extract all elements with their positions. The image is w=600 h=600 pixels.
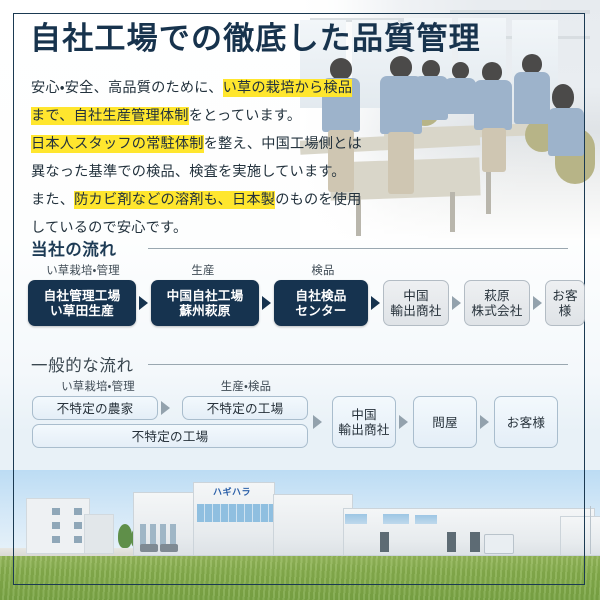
- infographic-page: ハギハラ 自社工場での徹底した品質管理 安心・安全、高品質のために、い草の栽培か…: [0, 0, 600, 600]
- flow-arrow-icon: [533, 296, 542, 310]
- general-flow-tail-1[interactable]: 問屋: [413, 396, 477, 448]
- lead-paragraph: 安心・安全、高品質のために、い草の栽培から検品 まで、自社生産管理体制をとってい…: [31, 75, 391, 243]
- lead-text: 安心・安全、高品質のために、: [31, 80, 223, 96]
- general-flow-step-factory-bottom[interactable]: 不特定の工場: [32, 424, 308, 448]
- own-flow-caption-0: い草栽培・管理: [28, 262, 138, 278]
- flow-arrow-icon: [161, 401, 170, 415]
- lead-text: のものを使用: [275, 192, 361, 208]
- own-flow-caption-1: 生産: [148, 262, 258, 278]
- own-flow-step-0[interactable]: 自社管理工場 い草田生産: [28, 280, 136, 326]
- lead-text: しているので安心です。: [31, 220, 187, 236]
- general-flow-step-farm[interactable]: 不特定の農家: [32, 396, 158, 420]
- lead-line-3: 日本人スタッフの常駐体制を整え、中国工場側とは: [31, 131, 391, 157]
- flow-arrow-icon: [139, 296, 148, 310]
- general-flow-tail-2[interactable]: お客様: [494, 396, 558, 448]
- general-flow-caption-1: 生産・検品: [186, 378, 306, 394]
- general-flow-section: 一般的な流れ い草栽培・管理 生産・検品 不特定の農家 不特定の工場 不特定の工…: [0, 352, 600, 464]
- building-sign: ハギハラ: [213, 485, 251, 498]
- own-flow-section: 当社の流れ い草栽培・管理 生産 検品 自社管理工場 い草田生産 中国自社工場 …: [0, 236, 600, 346]
- own-flow-step-2[interactable]: 自社検品 センター: [274, 280, 368, 326]
- factory-exterior-photo: ハギハラ: [0, 470, 600, 600]
- lead-text: 異なった基準での検品、検査を実施しています。: [31, 164, 346, 180]
- general-flow-tail-0[interactable]: 中国 輸出商社: [332, 396, 396, 448]
- own-flow-caption-2: 検品: [268, 262, 378, 278]
- flow-arrow-icon: [313, 415, 322, 429]
- general-flow-caption-0: い草栽培・管理: [38, 378, 158, 394]
- highlight-term: まで、自社生産管理体制: [31, 107, 189, 125]
- own-flow-step-5[interactable]: お客様: [545, 280, 585, 326]
- lead-line-2: まで、自社生産管理体制をとっています。: [31, 103, 391, 129]
- lead-text: をとっています。: [189, 108, 302, 124]
- highlight-term: 日本人スタッフの常駐体制: [31, 135, 204, 153]
- lead-text: また、: [31, 192, 74, 208]
- general-flow-step-factory-top[interactable]: 不特定の工場: [182, 396, 308, 420]
- general-flow-heading: 一般的な流れ: [31, 352, 134, 376]
- page-title: 自社工場での徹底した品質管理: [30, 24, 481, 55]
- lead-line-1: 安心・安全、高品質のために、い草の栽培から検品: [31, 75, 391, 101]
- lead-text: を整え、中国工場側とは: [204, 136, 362, 152]
- own-flow-heading: 当社の流れ: [31, 236, 117, 260]
- flow-arrow-icon: [371, 296, 380, 310]
- lead-line-4: 異なった基準での検品、検査を実施しています。: [31, 159, 391, 185]
- flow-arrow-icon: [262, 296, 271, 310]
- flow-arrow-icon: [399, 415, 408, 429]
- highlight-term: い草の栽培から検品: [223, 79, 353, 97]
- flow-arrow-icon: [452, 296, 461, 310]
- lead-line-5: また、防カビ剤などの溶剤も、日本製のものを使用: [31, 187, 391, 213]
- own-flow-step-1[interactable]: 中国自社工場 蘇州萩原: [151, 280, 259, 326]
- highlight-term: 日本製: [232, 191, 275, 209]
- own-flow-step-4[interactable]: 萩原 株式会社: [464, 280, 530, 326]
- highlight-term: 防カビ剤などの溶剤も、: [74, 191, 232, 209]
- flow-arrow-icon: [480, 415, 489, 429]
- own-flow-step-3[interactable]: 中国 輸出商社: [383, 280, 449, 326]
